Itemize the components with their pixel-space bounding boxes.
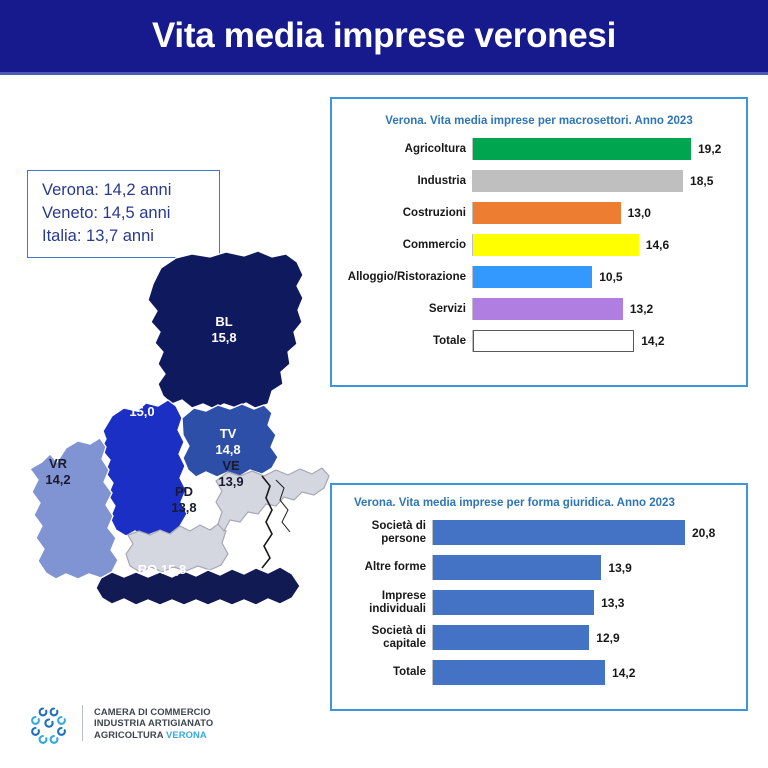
bar-fill[interactable] [473, 330, 634, 352]
bar-track: 14,2 [432, 660, 746, 685]
bar-value-label: 19,2 [691, 142, 721, 156]
bar-value-label: 12,9 [589, 631, 619, 645]
map-province-ve[interactable] [216, 468, 329, 531]
bar-category-label: Costruzioni [332, 207, 472, 220]
bar-row: Commercio14,6 [332, 231, 746, 259]
veneto-map-container: BL 15,8 TV 14,8 VI 15,0 VR 14,2 PD 13,8 … [0, 248, 330, 610]
chart-bars-macrosettori: Agricoltura19,2Industria18,5Costruzioni1… [332, 135, 746, 355]
bar-value-label: 13,9 [601, 561, 631, 575]
summary-statistics-box: Verona: 14,2 anni Veneto: 14,5 anni Ital… [27, 170, 220, 258]
bar-fill[interactable] [473, 202, 621, 224]
footer-logo: CAMERA DI COMMERCIO INDUSTRIA ARTIGIANAT… [28, 702, 213, 744]
bar-value-label: 13,3 [594, 596, 624, 610]
bar-track: 18,5 [472, 170, 746, 192]
camera-di-commercio-logo-icon [28, 702, 70, 744]
bar-value-label: 10,5 [592, 270, 622, 284]
bar-fill[interactable] [433, 520, 685, 545]
bar-track: 13,2 [472, 298, 746, 320]
bar-fill[interactable] [473, 138, 691, 160]
bar-category-label: Società dicapitale [332, 625, 432, 651]
bar-category-label: Totale [332, 335, 472, 348]
logo-line-2: INDUSTRIA ARTIGIANATO [94, 717, 213, 729]
map-label-vi-code: VI [136, 388, 148, 403]
summary-line-verona: Verona: 14,2 anni [42, 179, 209, 202]
summary-line-veneto: Veneto: 14,5 anni [42, 202, 209, 225]
bar-fill[interactable] [473, 234, 639, 256]
bar-category-label: Alloggio/Ristorazione [332, 271, 472, 284]
bar-category-label: Totale [332, 666, 432, 679]
bar-row: Impreseindividuali13,3 [332, 587, 746, 618]
bar-fill[interactable] [473, 170, 683, 192]
veneto-map: BL 15,8 TV 14,8 VI 15,0 VR 14,2 PD 13,8 … [0, 248, 330, 610]
map-province-vi[interactable] [101, 400, 187, 536]
bar-fill[interactable] [473, 266, 592, 288]
bar-fill[interactable] [433, 660, 605, 685]
logo-text: CAMERA DI COMMERCIO INDUSTRIA ARTIGIANAT… [94, 706, 213, 741]
bar-row: Alloggio/Ristorazione10,5 [332, 263, 746, 291]
bar-value-label: 20,8 [685, 526, 715, 540]
bar-fill[interactable] [473, 298, 623, 320]
bar-track: 13,3 [432, 590, 746, 615]
bar-value-label: 14,2 [634, 334, 664, 348]
bar-category-label: Altre forme [332, 561, 432, 574]
bar-row: Totale14,2 [332, 657, 746, 688]
chart-panel-macrosettori: Verona. Vita media imprese per macrosett… [330, 97, 748, 387]
bar-track: 13,0 [472, 202, 746, 224]
bar-track: 14,2 [472, 330, 746, 352]
bar-category-label: Impreseindividuali [332, 590, 432, 616]
bar-value-label: 13,0 [621, 206, 651, 220]
map-province-ro[interactable] [96, 567, 300, 605]
bar-row: Industria18,5 [332, 167, 746, 195]
bar-row: Società dicapitale12,9 [332, 622, 746, 653]
header-bar: Vita media imprese veronesi [0, 0, 768, 72]
bar-category-label: Industria [332, 175, 472, 188]
chart-title-forma-giuridica: Verona. Vita media imprese per forma giu… [354, 497, 746, 509]
map-province-vr[interactable] [30, 438, 118, 579]
bar-row: Costruzioni13,0 [332, 199, 746, 227]
logo-divider [82, 705, 83, 741]
summary-line-italia: Italia: 13,7 anni [42, 225, 209, 248]
logo-verona-text: VERONA [166, 729, 207, 740]
bar-value-label: 13,2 [623, 302, 653, 316]
bar-category-label: Società dipersone [332, 520, 432, 546]
bar-fill[interactable] [433, 590, 594, 615]
bar-track: 13,9 [432, 555, 746, 580]
map-province-bl[interactable] [148, 251, 303, 409]
bar-row: Servizi13,2 [332, 295, 746, 323]
bar-category-label: Agricoltura [332, 143, 472, 156]
bar-fill[interactable] [433, 555, 601, 580]
bar-row: Totale14,2 [332, 327, 746, 355]
logo-line-1: CAMERA DI COMMERCIO [94, 706, 213, 718]
header-underline [0, 72, 768, 75]
bar-value-label: 14,6 [639, 238, 669, 252]
chart-bars-forma-giuridica: Società dipersone20,8Altre forme13,9Impr… [332, 517, 746, 688]
bar-track: 14,6 [472, 234, 746, 256]
bar-value-label: 14,2 [605, 666, 635, 680]
map-province-tv[interactable] [182, 404, 278, 477]
bar-category-label: Servizi [332, 303, 472, 316]
page-title: Vita media imprese veronesi [152, 16, 616, 56]
logo-line-3: AGRICOLTURA VERONA [94, 729, 213, 741]
bar-row: Agricoltura19,2 [332, 135, 746, 163]
bar-track: 12,9 [432, 625, 746, 650]
logo-line-3-text: AGRICOLTURA [94, 729, 166, 740]
bar-value-label: 18,5 [683, 174, 713, 188]
bar-row: Altre forme13,9 [332, 552, 746, 583]
chart-panel-forma-giuridica: Verona. Vita media imprese per forma giu… [330, 483, 748, 711]
bar-track: 10,5 [472, 266, 746, 288]
bar-track: 20,8 [432, 520, 746, 545]
bar-fill[interactable] [433, 625, 589, 650]
bar-track: 19,2 [472, 138, 746, 160]
bar-row: Società dipersone20,8 [332, 517, 746, 548]
map-province-pd[interactable] [126, 524, 228, 572]
bar-category-label: Commercio [332, 239, 472, 252]
chart-title-macrosettori: Verona. Vita media imprese per macrosett… [332, 115, 746, 127]
